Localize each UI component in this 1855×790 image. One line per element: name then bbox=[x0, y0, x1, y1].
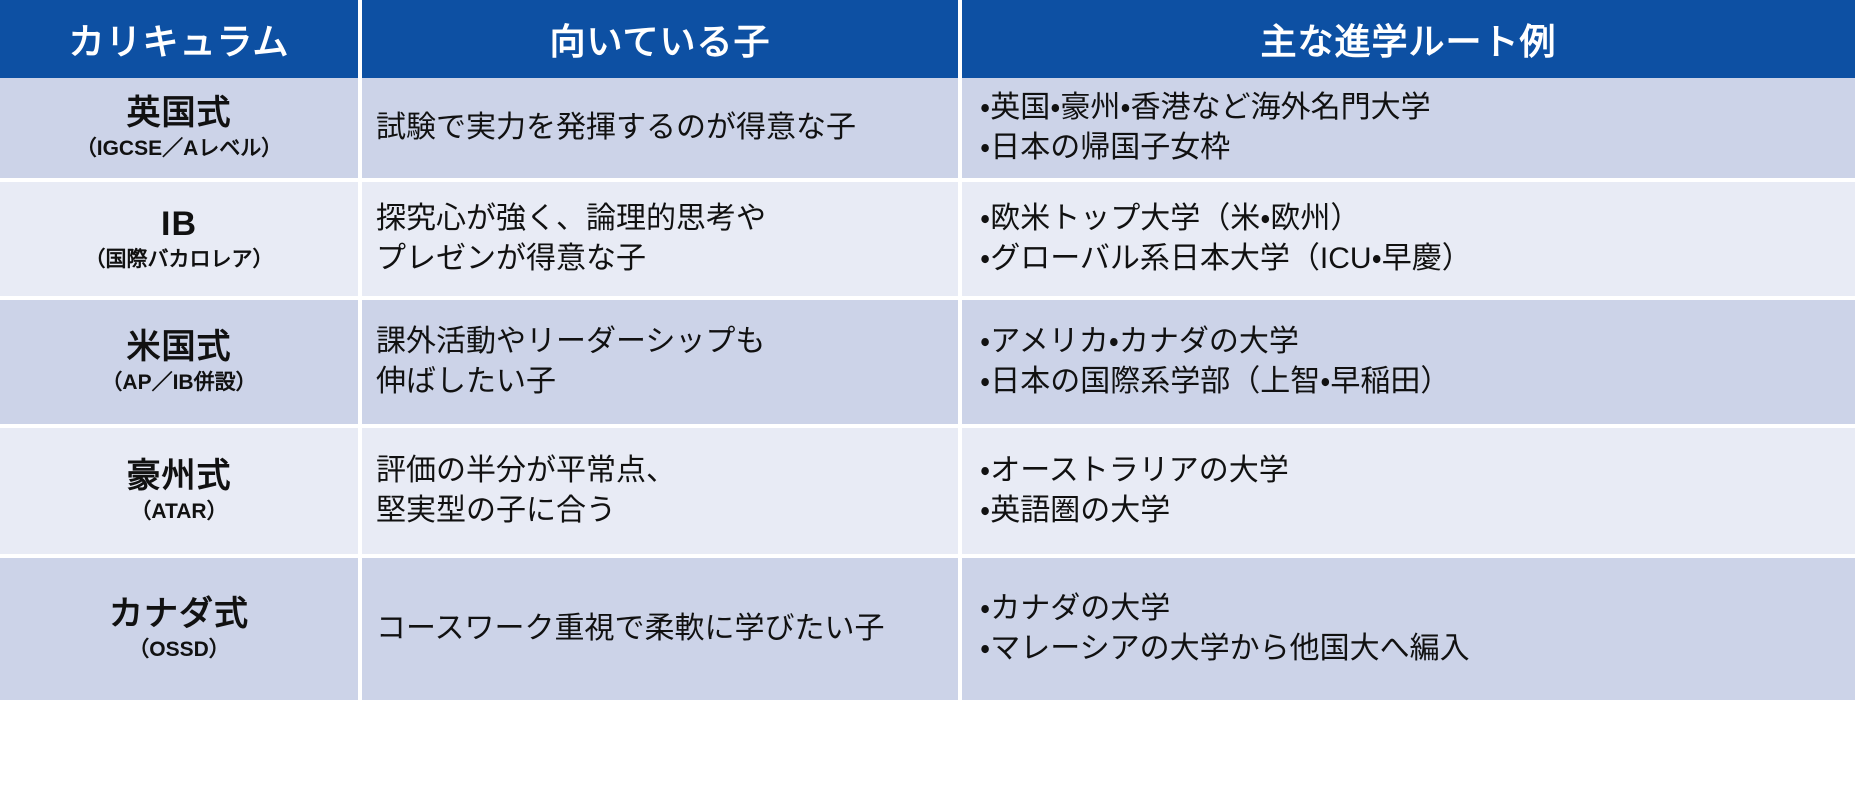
cell-pathway-examples: ・欧米トップ大学（米・欧州） ・グローバル系日本大学（ICU・早慶） bbox=[962, 182, 1855, 300]
curriculum-subtitle: （OSSD） bbox=[14, 636, 344, 663]
column-header-pathway-examples: 主な進学ルート例 bbox=[962, 0, 1855, 78]
cell-curriculum: IB （国際バカロレア） bbox=[0, 182, 362, 300]
text-line: 試験で実力を発揮するのが得意な子 bbox=[376, 108, 944, 148]
header-row: カリキュラム 向いている子 主な進学ルート例 bbox=[0, 0, 1855, 78]
curriculum-name: IB bbox=[14, 205, 344, 244]
cell-suited-child: 探究心が強く、論理的思考や プレゼンが得意な子 bbox=[362, 182, 962, 300]
cell-suited-child: 試験で実力を発揮するのが得意な子 bbox=[362, 78, 962, 182]
cell-curriculum: カナダ式 （OSSD） bbox=[0, 558, 362, 700]
text-line: ・アメリカ・カナダの大学 bbox=[980, 322, 1841, 362]
curriculum-name: 豪州式 bbox=[14, 457, 344, 496]
text-line: ・グローバル系日本大学（ICU・早慶） bbox=[980, 239, 1841, 279]
text-line: ・マレーシアの大学から他国大へ編入 bbox=[980, 629, 1841, 669]
text-line: ・英国・豪州・香港など海外名門大学 bbox=[980, 88, 1841, 128]
table-row: 豪州式 （ATAR） 評価の半分が平常点、 堅実型の子に合う ・オーストラリアの… bbox=[0, 428, 1855, 558]
text-line: 伸ばしたい子 bbox=[376, 362, 944, 402]
curriculum-subtitle: （AP／IB併設） bbox=[14, 369, 344, 396]
cell-pathway-examples: ・オーストラリアの大学 ・英語圏の大学 bbox=[962, 428, 1855, 558]
text-line: ・欧米トップ大学（米・欧州） bbox=[980, 199, 1841, 239]
table-body: 英国式 （IGCSE／Aレベル） 試験で実力を発揮するのが得意な子 ・英国・豪州… bbox=[0, 78, 1855, 700]
cell-pathway-examples: ・英国・豪州・香港など海外名門大学 ・日本の帰国子女枠 bbox=[962, 78, 1855, 182]
text-line: コースワーク重視で柔軟に学びたい子 bbox=[376, 609, 944, 649]
text-line: 探究心が強く、論理的思考や bbox=[376, 199, 944, 239]
text-line: 評価の半分が平常点、 bbox=[376, 451, 944, 491]
cell-pathway-examples: ・アメリカ・カナダの大学 ・日本の国際系学部（上智・早稲田） bbox=[962, 300, 1855, 428]
text-line: 課外活動やリーダーシップも bbox=[376, 322, 944, 362]
curriculum-subtitle: （国際バカロレア） bbox=[14, 246, 344, 273]
cell-curriculum: 米国式 （AP／IB併設） bbox=[0, 300, 362, 428]
table-row: 米国式 （AP／IB併設） 課外活動やリーダーシップも 伸ばしたい子 ・アメリカ… bbox=[0, 300, 1855, 428]
curriculum-comparison-table-container: カリキュラム 向いている子 主な進学ルート例 英国式 （IGCSE／Aレベル） … bbox=[0, 0, 1855, 790]
cell-suited-child: 評価の半分が平常点、 堅実型の子に合う bbox=[362, 428, 962, 558]
table-row: 英国式 （IGCSE／Aレベル） 試験で実力を発揮するのが得意な子 ・英国・豪州… bbox=[0, 78, 1855, 182]
text-line: ・オーストラリアの大学 bbox=[980, 451, 1841, 491]
text-line: ・英語圏の大学 bbox=[980, 491, 1841, 531]
curriculum-comparison-table: カリキュラム 向いている子 主な進学ルート例 英国式 （IGCSE／Aレベル） … bbox=[0, 0, 1855, 700]
curriculum-name: カナダ式 bbox=[14, 595, 344, 634]
text-line: プレゼンが得意な子 bbox=[376, 239, 944, 279]
column-header-suited-child: 向いている子 bbox=[362, 0, 962, 78]
curriculum-subtitle: （IGCSE／Aレベル） bbox=[14, 135, 344, 162]
table-row: IB （国際バカロレア） 探究心が強く、論理的思考や プレゼンが得意な子 ・欧米… bbox=[0, 182, 1855, 300]
table-header: カリキュラム 向いている子 主な進学ルート例 bbox=[0, 0, 1855, 78]
cell-suited-child: 課外活動やリーダーシップも 伸ばしたい子 bbox=[362, 300, 962, 428]
text-line: 堅実型の子に合う bbox=[376, 491, 944, 531]
column-header-curriculum: カリキュラム bbox=[0, 0, 362, 78]
cell-curriculum: 豪州式 （ATAR） bbox=[0, 428, 362, 558]
text-line: ・日本の帰国子女枠 bbox=[980, 128, 1841, 168]
table-row: カナダ式 （OSSD） コースワーク重視で柔軟に学びたい子 ・カナダの大学 ・マ… bbox=[0, 558, 1855, 700]
curriculum-name: 英国式 bbox=[14, 94, 344, 133]
curriculum-subtitle: （ATAR） bbox=[14, 498, 344, 525]
cell-suited-child: コースワーク重視で柔軟に学びたい子 bbox=[362, 558, 962, 700]
text-line: ・カナダの大学 bbox=[980, 589, 1841, 629]
text-line: ・日本の国際系学部（上智・早稲田） bbox=[980, 362, 1841, 402]
curriculum-name: 米国式 bbox=[14, 328, 344, 367]
cell-curriculum: 英国式 （IGCSE／Aレベル） bbox=[0, 78, 362, 182]
cell-pathway-examples: ・カナダの大学 ・マレーシアの大学から他国大へ編入 bbox=[962, 558, 1855, 700]
